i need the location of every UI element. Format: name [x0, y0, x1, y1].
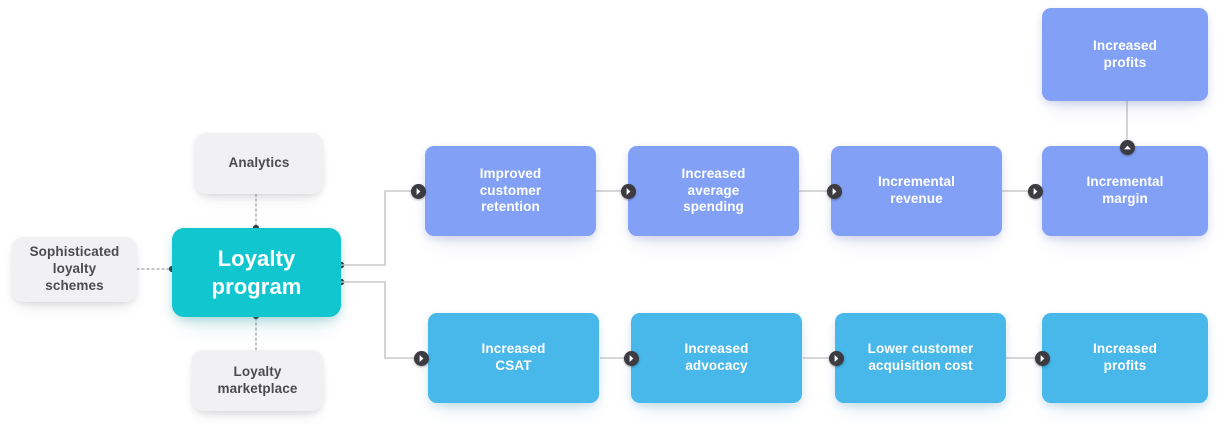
node-label: Improved customer retention: [480, 166, 542, 217]
node-label: Loyalty program: [212, 245, 302, 300]
arrow-marker-right-icon: [411, 184, 426, 199]
arrow-marker-right-icon: [827, 184, 842, 199]
arrow-marker-up-icon: [1120, 140, 1135, 155]
arrow-marker-right-icon: [1035, 351, 1050, 366]
edge-program-to-retention: [341, 191, 425, 265]
edge-program-to-csat: [341, 282, 425, 358]
node-label: Lower customer acquisition cost: [868, 341, 974, 375]
node-loyalty-marketplace[interactable]: Loyalty marketplace: [192, 350, 323, 411]
node-label: Incremental margin: [1087, 174, 1164, 208]
arrow-marker-right-icon: [1028, 184, 1043, 199]
node-label: Incremental revenue: [878, 174, 955, 208]
node-loyalty-program[interactable]: Loyalty program: [172, 228, 341, 317]
node-improved-customer-retention[interactable]: Improved customer retention: [425, 146, 596, 236]
node-increased-profits-bottom[interactable]: Increased profits: [1042, 313, 1208, 403]
node-label: Sophisticated loyalty schemes: [30, 244, 120, 295]
node-incremental-revenue[interactable]: Incremental revenue: [831, 146, 1002, 236]
arrow-marker-right-icon: [414, 351, 429, 366]
node-label: Increased profits: [1093, 341, 1157, 375]
node-label: Analytics: [229, 155, 290, 172]
node-lower-customer-acquisition-cost[interactable]: Lower customer acquisition cost: [835, 313, 1006, 403]
node-increased-average-spending[interactable]: Increased average spending: [628, 146, 799, 236]
node-increased-advocacy[interactable]: Increased advocacy: [631, 313, 802, 403]
node-incremental-margin[interactable]: Incremental margin: [1042, 146, 1208, 236]
node-label: Loyalty marketplace: [218, 364, 298, 398]
node-increased-profits-top[interactable]: Increased profits: [1042, 8, 1208, 101]
node-increased-csat[interactable]: Increased CSAT: [428, 313, 599, 403]
node-label: Increased advocacy: [685, 341, 749, 375]
arrow-marker-right-icon: [621, 184, 636, 199]
arrow-marker-right-icon: [829, 351, 844, 366]
node-label: Increased CSAT: [482, 341, 546, 375]
node-label: Increased average spending: [682, 166, 746, 217]
node-sophisticated-loyalty-schemes[interactable]: Sophisticated loyalty schemes: [12, 237, 137, 302]
arrow-marker-right-icon: [624, 351, 639, 366]
diagram-canvas: Sophisticated loyalty schemes Analytics …: [0, 0, 1227, 424]
node-label: Increased profits: [1093, 38, 1157, 72]
node-analytics[interactable]: Analytics: [195, 133, 323, 194]
